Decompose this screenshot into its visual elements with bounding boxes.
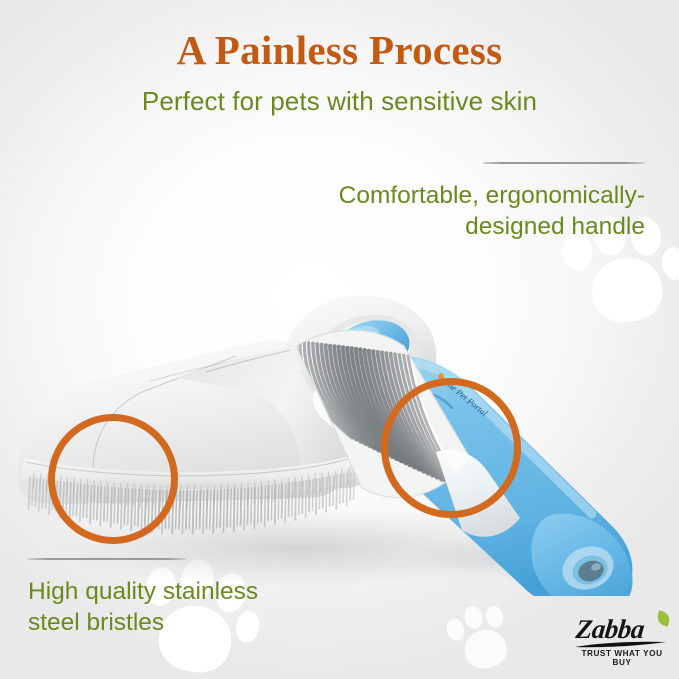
logo-swoosh-icon	[574, 641, 668, 649]
page-subtitle: Perfect for pets with sensitive skin	[0, 86, 679, 117]
callout-bristles: High quality stainless steel bristles	[28, 576, 358, 639]
highlight-ring-bristles	[48, 414, 178, 544]
callout-handle-line2: designed handle	[255, 211, 645, 242]
page-title: A Painless Process	[0, 26, 679, 74]
callout-bristles-line2: steel bristles	[28, 607, 358, 638]
callout-bristles-line1: High quality stainless	[28, 576, 358, 607]
highlight-ring-grip	[381, 378, 521, 518]
callout-handle-line1: Comfortable, ergonomically-	[255, 180, 645, 211]
callout-handle: Comfortable, ergonomically- designed han…	[255, 180, 645, 243]
infographic-canvas: A Painless Process Perfect for pets with…	[0, 0, 679, 679]
paw-print-watermark	[443, 597, 528, 679]
brand-tagline: TRUST WHAT YOU BUY	[572, 649, 672, 667]
divider-top	[483, 162, 645, 164]
divider-bottom	[28, 558, 186, 560]
brand-logo: Zabba TRUST WHAT YOU BUY	[572, 614, 672, 664]
